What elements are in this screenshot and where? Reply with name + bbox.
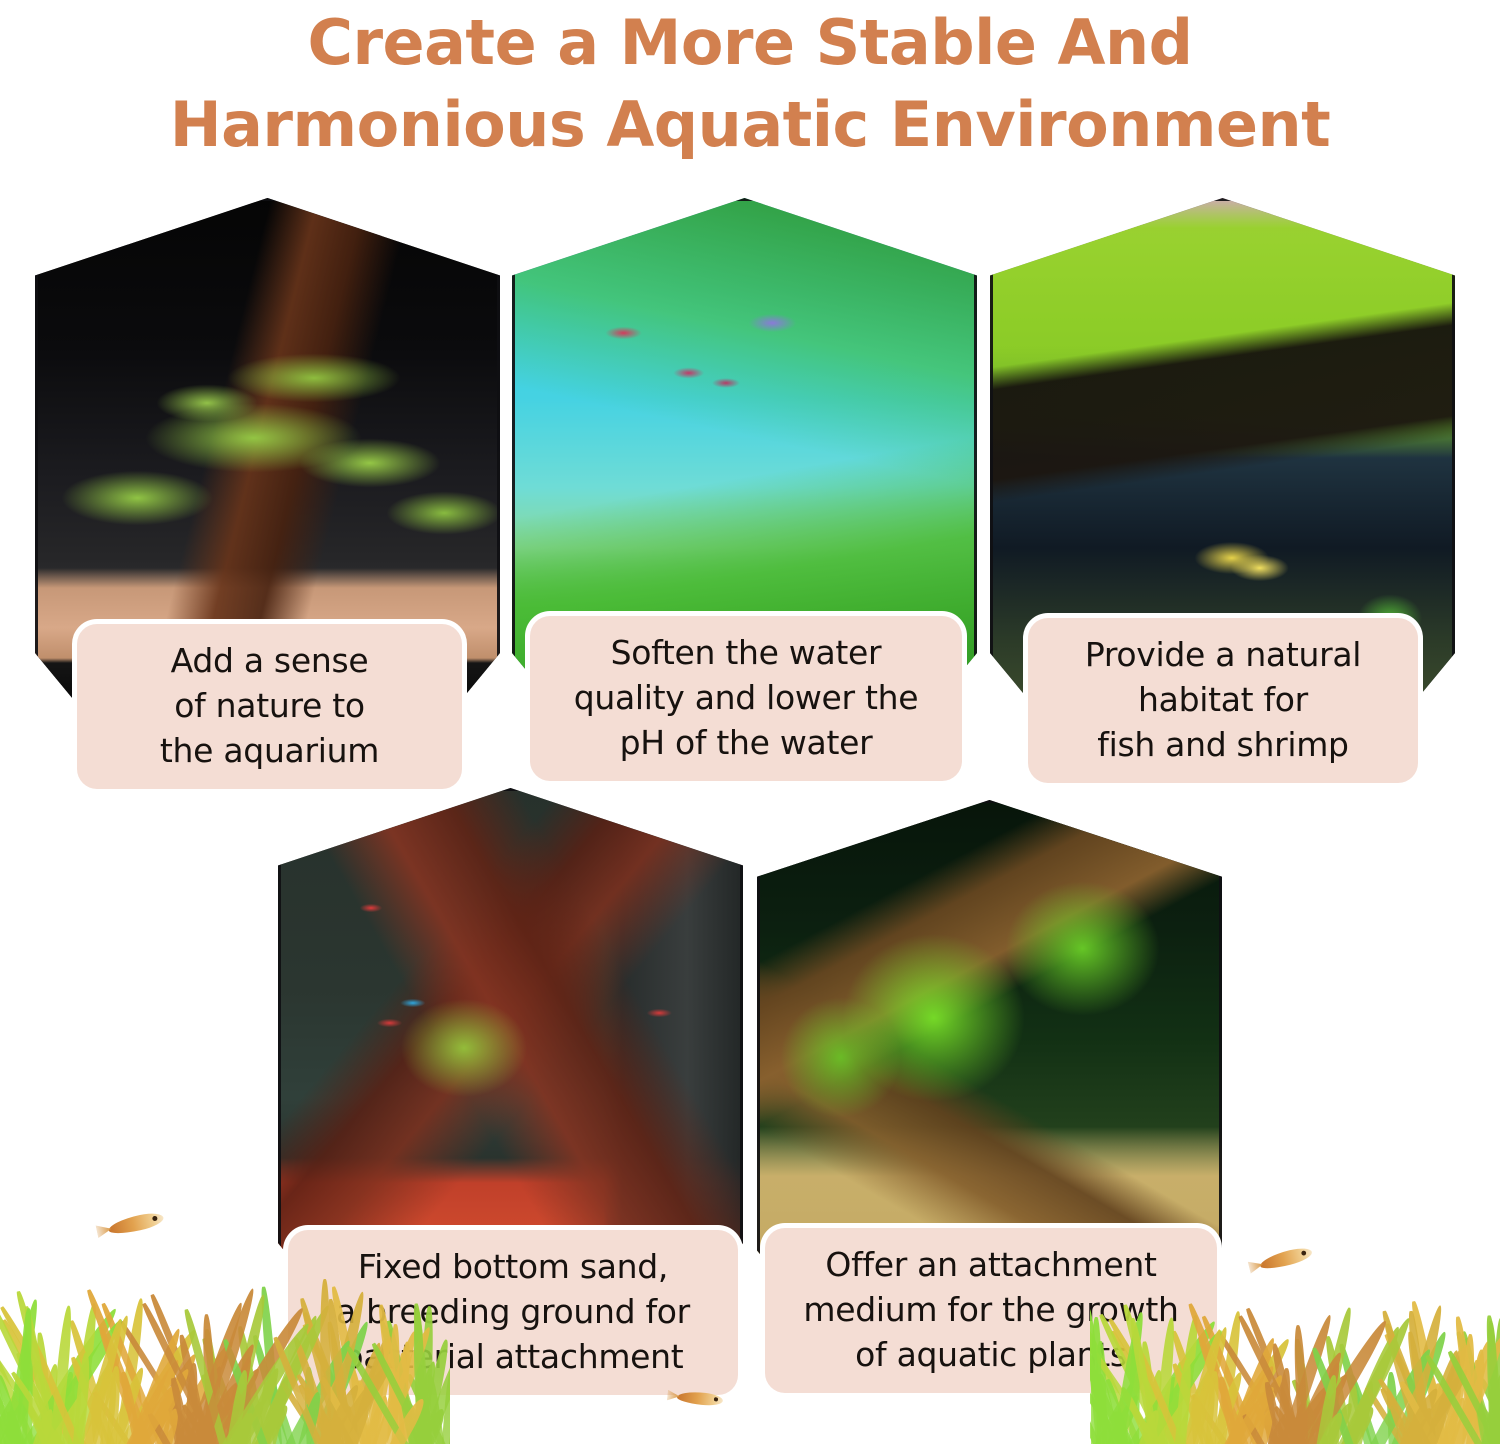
page-title-line-2: Harmonious Aquatic Environment	[40, 84, 1460, 166]
decor-fish-right	[1258, 1245, 1313, 1272]
card-label-red-sand: Fixed bottom sand, a breeding ground for…	[288, 1230, 738, 1395]
card-label-moss-log: Provide a natural habitat for fish and s…	[1028, 618, 1418, 783]
card-image-red-sand	[278, 788, 743, 1288]
card-label-moss-tree: Offer an attachment medium for the growt…	[765, 1228, 1217, 1393]
card-label-planted-tank: Soften the water quality and lower the p…	[530, 616, 962, 781]
card-image-moss-tree	[757, 800, 1222, 1295]
card-label-bonsai: Add a sense of nature to the aquarium	[77, 624, 462, 789]
card-image-bonsai	[35, 198, 500, 698]
feature-card-planted-tank: Soften the water quality and lower the p…	[512, 198, 977, 698]
feature-card-bonsai: Add a sense of nature to the aquarium	[35, 198, 500, 698]
promo-banner: Create a More Stable And Harmonious Aqua…	[0, 0, 1500, 1444]
feature-card-moss-log: Provide a natural habitat for fish and s…	[990, 198, 1455, 698]
decor-fish-left	[107, 1210, 165, 1236]
feature-card-moss-tree: Offer an attachment medium for the growt…	[757, 800, 1222, 1295]
page-title: Create a More Stable And Harmonious Aqua…	[0, 2, 1500, 166]
feature-card-red-sand: Fixed bottom sand, a breeding ground for…	[278, 788, 743, 1288]
page-title-line-1: Create a More Stable And	[307, 6, 1192, 79]
